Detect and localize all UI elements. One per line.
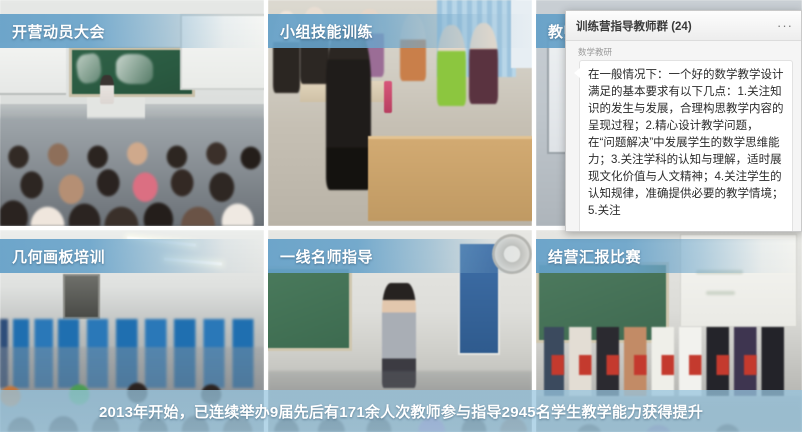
panel-label-text: 结营汇报比赛 (536, 246, 641, 267)
chat-sender-name: 数学教研 (574, 46, 793, 58)
bubble-tail-icon (574, 68, 580, 78)
panel-label-text: 一线名师指导 (268, 246, 373, 267)
chat-message-text: 在一般情况下：一个好的数学教学设计满足的基本要求有以下几点：1.关注知识的发生与… (579, 60, 793, 232)
chat-message-list[interactable]: 数学教研 在一般情况下：一个好的数学教学设计满足的基本要求有以下几点：1.关注知… (566, 41, 801, 232)
caption-text: 2013年开始，已连续举办9届先后有171余人次教师参与指导2945名学生教学能… (99, 401, 703, 422)
panel-label-text: 小组技能训练 (268, 21, 373, 42)
chat-window[interactable]: 训练营指导教师群 (24) ··· 数学教研 在一般情况下：一个好的数学教学设计… (565, 10, 802, 232)
panel-mobilization-meeting[interactable]: 开营动员大会 (0, 0, 264, 226)
panel-label-band: 一线名师指导 (268, 239, 532, 273)
panel-label-text: 几何画板培训 (0, 246, 105, 267)
chat-titlebar: 训练营指导教师群 (24) ··· (566, 11, 801, 41)
chat-title: 训练营指导教师群 (24) (576, 18, 771, 34)
poster-stage: 开营动员大会 小组技能训练 (0, 0, 802, 432)
panel-label-band: 结营汇报比赛 (536, 239, 802, 273)
panel-label-band: 小组技能训练 (268, 14, 532, 48)
panel-label-band: 几何画板培训 (0, 239, 264, 273)
panel-group-skill-training[interactable]: 小组技能训练 (268, 0, 532, 226)
panel-label-band: 开营动员大会 (0, 14, 264, 48)
more-options-icon[interactable]: ··· (771, 22, 793, 30)
chat-message-item: 在一般情况下：一个好的数学教学设计满足的基本要求有以下几点：1.关注知识的发生与… (574, 60, 793, 232)
caption-bar: 2013年开始，已连续举办9届先后有171余人次教师参与指导2945名学生教学能… (0, 390, 802, 432)
panel-label-text: 开营动员大会 (0, 21, 105, 42)
